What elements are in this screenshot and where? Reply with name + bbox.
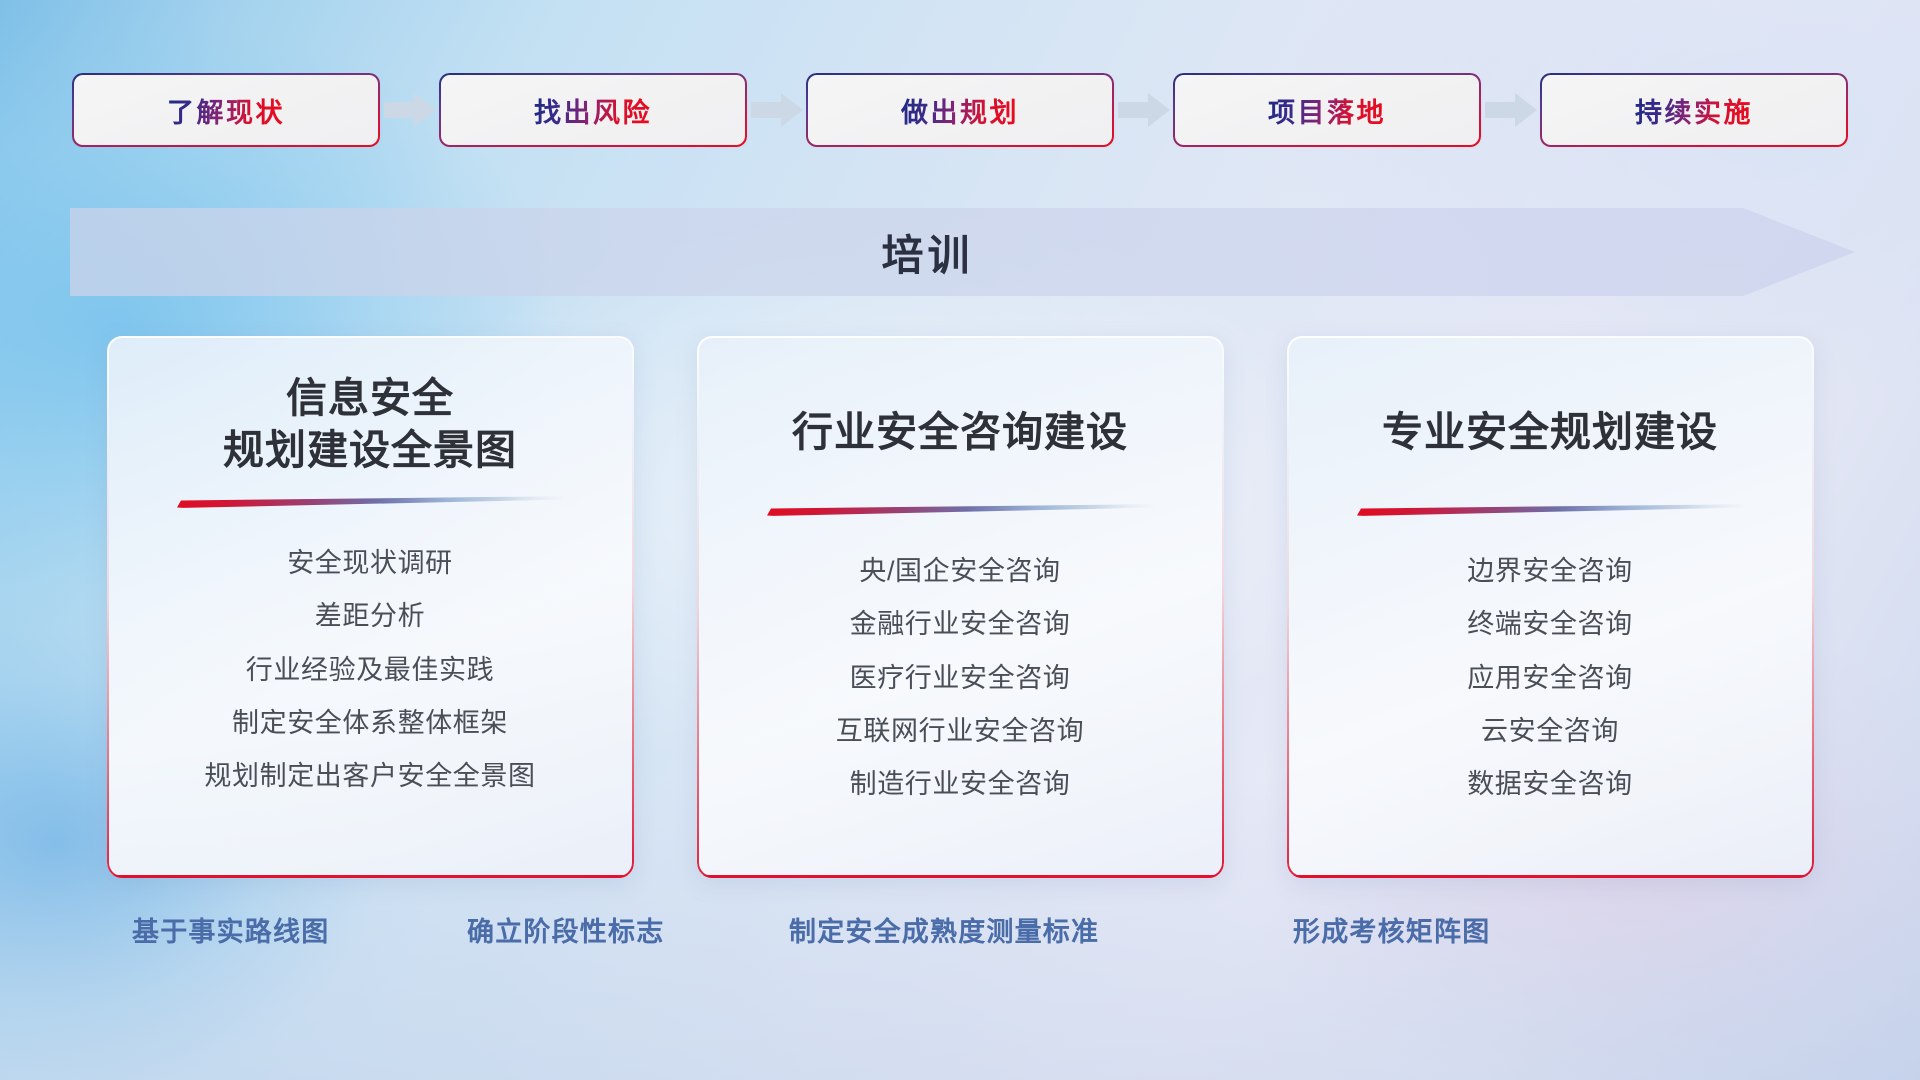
step-item-2[interactable]: 找出风险 xyxy=(441,75,746,145)
list-item: 应用安全咨询 xyxy=(1467,659,1633,697)
cards-row: 信息安全 规划建设全景图 安 xyxy=(0,336,1920,878)
card-title-line: 行业安全咨询建设 xyxy=(792,406,1128,458)
card-list: 安全现状调研 差距分析 行业经验及最佳实践 制定安全体系整体框架 规划制定出客户… xyxy=(107,544,634,796)
arrow-right-icon xyxy=(379,75,441,145)
arrow-right-icon xyxy=(1113,75,1175,145)
banner-label: 培训 xyxy=(70,208,1855,296)
card-title-line: 专业安全规划建设 xyxy=(1382,406,1718,458)
step-label: 找出风险 xyxy=(534,91,652,130)
footnotes-row: 基于事实路线图 确立阶段性标志 制定安全成熟度测量标准 形成考核矩阵图 xyxy=(0,910,1920,970)
arrow-right-icon xyxy=(1480,75,1542,145)
step-item-4[interactable]: 项目落地 xyxy=(1175,75,1480,145)
card-list: 央/国企安全咨询 金融行业安全咨询 医疗行业安全咨询 互联网行业安全咨询 制造行… xyxy=(697,552,1224,804)
card-information-security[interactable]: 信息安全 规划建设全景图 安 xyxy=(107,336,634,878)
list-item: 差距分析 xyxy=(315,597,425,635)
step-label: 了解现状 xyxy=(167,91,285,130)
step-item-1[interactable]: 了解现状 xyxy=(74,75,379,145)
card-industry-security-consulting[interactable]: 行业安全咨询建设 央/国企安全咨询 xyxy=(697,336,1224,878)
card-title: 信息安全 规划建设全景图 xyxy=(223,370,517,478)
list-item: 云安全咨询 xyxy=(1481,712,1619,750)
card-title: 行业安全咨询建设 xyxy=(792,378,1128,486)
process-steps-row: 了解现状 找出风险 做出规划 项目落地 持续实施 xyxy=(0,72,1920,148)
card-professional-security-planning[interactable]: 专业安全规划建设 边界安全咨询 xyxy=(1287,336,1814,878)
arrow-right-icon xyxy=(746,75,808,145)
footnote-label: 确立阶段性标志 xyxy=(467,910,664,949)
gradient-divider-icon xyxy=(767,502,1153,516)
gradient-divider-icon xyxy=(1357,502,1743,516)
training-banner: 培训 xyxy=(70,208,1855,296)
step-item-3[interactable]: 做出规划 xyxy=(808,75,1113,145)
list-item: 金融行业安全咨询 xyxy=(850,605,1071,643)
list-item: 制造行业安全咨询 xyxy=(850,765,1071,803)
step-label: 持续实施 xyxy=(1635,91,1753,130)
gradient-divider-icon xyxy=(177,494,563,508)
card-list: 边界安全咨询 终端安全咨询 应用安全咨询 云安全咨询 数据安全咨询 xyxy=(1287,552,1814,804)
card-title: 专业安全规划建设 xyxy=(1382,378,1718,486)
list-item: 行业经验及最佳实践 xyxy=(246,651,494,689)
list-item: 制定安全体系整体框架 xyxy=(232,704,508,742)
list-item: 央/国企安全咨询 xyxy=(859,552,1060,590)
list-item: 规划制定出客户安全全景图 xyxy=(204,757,535,795)
list-item: 互联网行业安全咨询 xyxy=(836,712,1084,750)
card-title-line: 信息安全 xyxy=(223,372,517,424)
card-title-line: 规划建设全景图 xyxy=(223,424,517,476)
list-item: 终端安全咨询 xyxy=(1467,605,1633,643)
list-item: 医疗行业安全咨询 xyxy=(850,659,1071,697)
footnote-label: 制定安全成熟度测量标准 xyxy=(789,910,1099,949)
footnote-label: 形成考核矩阵图 xyxy=(1293,910,1490,949)
step-item-5[interactable]: 持续实施 xyxy=(1542,75,1847,145)
list-item: 数据安全咨询 xyxy=(1467,765,1633,803)
footnote-label: 基于事实路线图 xyxy=(132,910,329,949)
list-item: 安全现状调研 xyxy=(287,544,453,582)
step-label: 项目落地 xyxy=(1268,91,1386,130)
step-label: 做出规划 xyxy=(901,91,1019,130)
list-item: 边界安全咨询 xyxy=(1467,552,1633,590)
